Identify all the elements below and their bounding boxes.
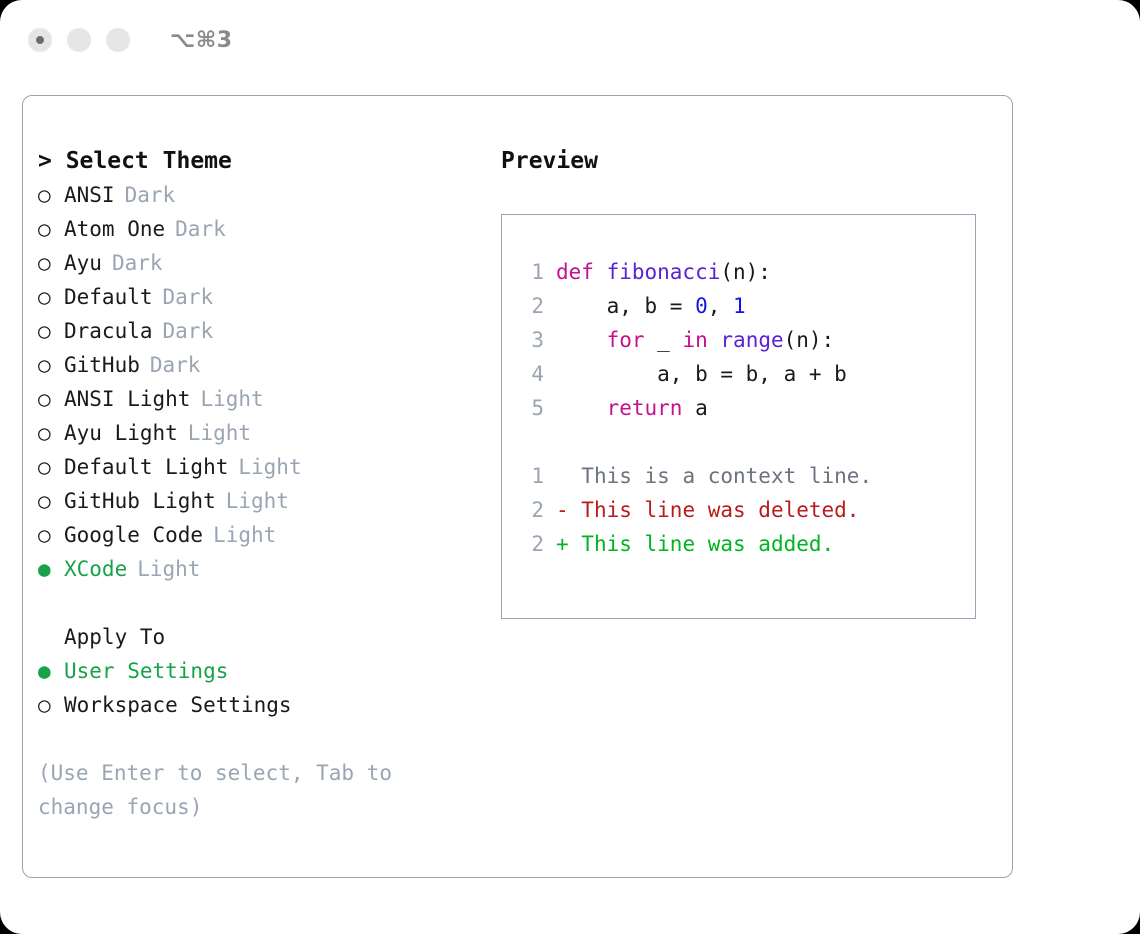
diff-line-number: 2	[518, 493, 544, 527]
apply-to-option-workspace-settings[interactable]: ○Workspace Settings	[38, 688, 498, 722]
theme-option-label: GitHub	[64, 348, 140, 382]
theme-option-default[interactable]: ○DefaultDark	[38, 280, 498, 314]
radio-unselected-icon: ○	[38, 416, 64, 450]
theme-option-tag: Light	[137, 552, 200, 586]
window-control-dot-active[interactable]	[28, 28, 52, 52]
theme-option-ayu[interactable]: ○AyuDark	[38, 246, 498, 280]
diff-text: This is a context line.	[569, 459, 872, 493]
apply-to-option-user-settings[interactable]: ●User Settings	[38, 654, 498, 688]
code-line: 4 a, b = b, a + b	[518, 357, 872, 391]
code-line: 5 return a	[518, 391, 872, 425]
preview-box: 1def fibonacci(n):2 a, b = 0, 13 for _ i…	[501, 214, 976, 619]
diff-line-number: 1	[518, 459, 544, 493]
theme-option-label: Google Code	[64, 518, 203, 552]
code-line-content: a, b = b, a + b	[556, 357, 847, 391]
theme-option-default-light[interactable]: ○Default LightLight	[38, 450, 498, 484]
theme-option-label: Ayu Light	[64, 416, 178, 450]
active-dot-indicator	[36, 36, 44, 44]
radio-unselected-icon: ○	[38, 280, 64, 314]
theme-option-label: Default Light	[64, 450, 228, 484]
theme-option-tag: Light	[188, 416, 251, 450]
theme-option-ayu-light[interactable]: ○Ayu LightLight	[38, 416, 498, 450]
theme-option-github[interactable]: ○GitHubDark	[38, 348, 498, 382]
code-line: 3 for _ in range(n):	[518, 323, 872, 357]
preview-column: Preview 1def fibonacci(n):2 a, b = 0, 13…	[501, 144, 1001, 619]
code-token-txt: (n):	[784, 328, 835, 352]
code-line: 2 a, b = 0, 1	[518, 289, 872, 323]
code-token-txt	[556, 396, 607, 420]
code-line-number: 4	[518, 357, 544, 391]
radio-unselected-icon: ○	[38, 212, 64, 246]
radio-selected-icon: ●	[38, 654, 64, 688]
code-line-number: 5	[518, 391, 544, 425]
window-controls	[28, 28, 130, 52]
theme-option-label: Dracula	[64, 314, 153, 348]
code-token-kw: return	[607, 396, 683, 420]
code-line-content: def fibonacci(n):	[556, 255, 771, 289]
keyboard-shortcut-label: ⌥⌘3	[170, 28, 233, 53]
radio-unselected-icon: ○	[38, 450, 64, 484]
theme-option-tag: Dark	[112, 246, 163, 280]
theme-option-label: ANSI Light	[64, 382, 190, 416]
theme-option-label: Atom One	[64, 212, 165, 246]
code-line-content: a, b = 0, 1	[556, 289, 746, 323]
theme-option-tag: Dark	[163, 314, 214, 348]
theme-picker-column: > Select Theme ○ANSIDark○Atom OneDark○Ay…	[38, 144, 498, 824]
theme-option-ansi[interactable]: ○ANSIDark	[38, 178, 498, 212]
theme-option-tag: Dark	[150, 348, 201, 382]
code-token-txt: a, b =	[556, 294, 695, 318]
keyboard-hint: (Use Enter to select, Tab to change focu…	[38, 756, 438, 824]
theme-option-atom-one[interactable]: ○Atom OneDark	[38, 212, 498, 246]
apply-to-heading: Apply To	[38, 620, 498, 654]
theme-option-tag: Light	[226, 484, 289, 518]
theme-option-tag: Dark	[163, 280, 214, 314]
apply-to-list: ●User Settings○Workspace Settings	[38, 654, 498, 722]
radio-unselected-icon: ○	[38, 518, 64, 552]
theme-option-label: Ayu	[64, 246, 102, 280]
code-token-txt	[708, 328, 721, 352]
diff-line-number: 2	[518, 527, 544, 561]
theme-option-google-code[interactable]: ○Google CodeLight	[38, 518, 498, 552]
code-line-number: 3	[518, 323, 544, 357]
theme-option-tag: Light	[238, 450, 301, 484]
code-token-kw: in	[682, 328, 707, 352]
code-token-txt: _	[645, 328, 683, 352]
code-token-txt	[556, 328, 607, 352]
code-token-txt: a	[682, 396, 707, 420]
diff-sign: -	[556, 493, 569, 527]
window-control-dot-third[interactable]	[106, 28, 130, 52]
list-spacer	[38, 586, 498, 620]
theme-option-label: ANSI	[64, 178, 115, 212]
title-bar: ⌥⌘3	[0, 0, 1140, 80]
diff-line-del: 2- This line was deleted.	[518, 493, 872, 527]
preview-code: 1def fibonacci(n):2 a, b = 0, 13 for _ i…	[518, 255, 872, 561]
theme-option-tag: Light	[213, 518, 276, 552]
theme-option-label: XCode	[64, 552, 127, 586]
code-token-num: 1	[733, 294, 746, 318]
code-token-txt: (n):	[720, 260, 771, 284]
code-token-fn: fibonacci	[607, 260, 721, 284]
code-line: 1def fibonacci(n):	[518, 255, 872, 289]
code-token-num: 0	[695, 294, 708, 318]
radio-unselected-icon: ○	[38, 484, 64, 518]
theme-option-label: GitHub Light	[64, 484, 216, 518]
code-token-txt: ,	[708, 294, 733, 318]
theme-option-xcode[interactable]: ●XCodeLight	[38, 552, 498, 586]
diff-line-ctx: 1 This is a context line.	[518, 459, 872, 493]
theme-list: ○ANSIDark○Atom OneDark○AyuDark○DefaultDa…	[38, 178, 498, 586]
code-token-txt: a, b = b, a + b	[556, 362, 847, 386]
theme-option-tag: Dark	[175, 212, 226, 246]
radio-unselected-icon: ○	[38, 688, 64, 722]
code-line-number: 1	[518, 255, 544, 289]
theme-option-dracula[interactable]: ○DraculaDark	[38, 314, 498, 348]
radio-unselected-icon: ○	[38, 348, 64, 382]
theme-option-tag: Light	[200, 382, 263, 416]
code-token-fn: range	[720, 328, 783, 352]
select-theme-heading: > Select Theme	[38, 144, 498, 178]
radio-unselected-icon: ○	[38, 382, 64, 416]
code-line-content: for _ in range(n):	[556, 323, 834, 357]
radio-selected-icon: ●	[38, 552, 64, 586]
code-line-number: 2	[518, 289, 544, 323]
app-window: ⌥⌘3 > Select Theme ○ANSIDark○Atom OneDar…	[0, 0, 1140, 934]
main-panel: > Select Theme ○ANSIDark○Atom OneDark○Ay…	[22, 95, 1013, 878]
code-token-kw: def	[556, 260, 607, 284]
diff-line-add: 2+ This line was added.	[518, 527, 872, 561]
radio-unselected-icon: ○	[38, 178, 64, 212]
theme-option-ansi-light[interactable]: ○ANSI LightLight	[38, 382, 498, 416]
diff-sign: +	[556, 527, 569, 561]
code-diff-separator	[518, 425, 872, 459]
code-token-kw: for	[607, 328, 645, 352]
theme-option-label: Default	[64, 280, 153, 314]
diff-text: This line was added.	[569, 527, 835, 561]
preview-heading: Preview	[501, 144, 1001, 178]
apply-to-option-label: Workspace Settings	[64, 688, 292, 722]
theme-option-tag: Dark	[125, 178, 176, 212]
radio-unselected-icon: ○	[38, 314, 64, 348]
radio-unselected-icon: ○	[38, 246, 64, 280]
window-control-dot-second[interactable]	[67, 28, 91, 52]
code-line-content: return a	[556, 391, 708, 425]
diff-sign	[556, 459, 569, 493]
theme-option-github-light[interactable]: ○GitHub LightLight	[38, 484, 498, 518]
diff-text: This line was deleted.	[569, 493, 860, 527]
apply-to-option-label: User Settings	[64, 654, 228, 688]
